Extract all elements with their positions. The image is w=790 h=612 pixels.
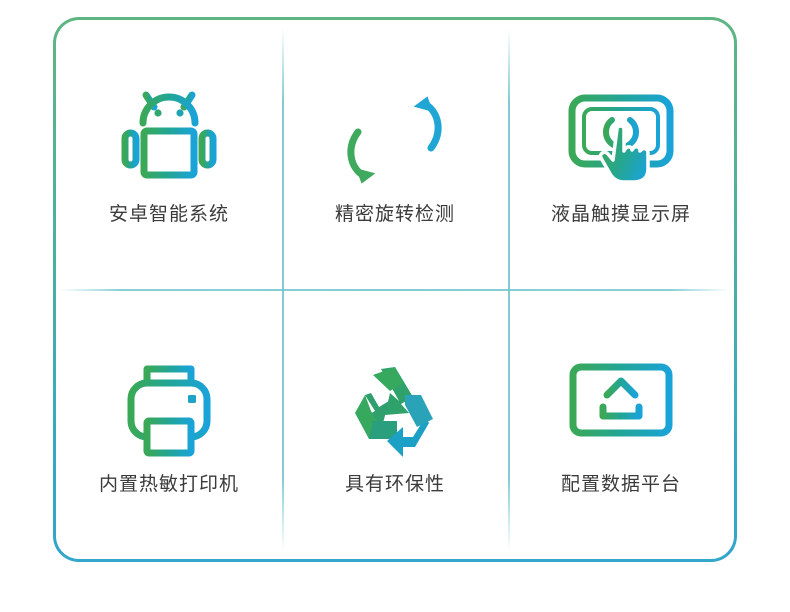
feature-grid-page: 安卓智能系统 [0,0,790,612]
feature-label: 配置数据平台 [561,475,681,494]
grid-divider-horizontal [60,289,730,291]
monitor-upload-icon [561,355,681,465]
feature-cell-environmentally-friendly[interactable]: 具有环保性 [282,290,508,560]
feature-cell-android-system[interactable]: 安卓智能系统 [56,20,282,290]
feature-label: 内置热敏打印机 [99,475,239,494]
feature-cell-built-in-thermal-printer[interactable]: 内置热敏打印机 [56,290,282,560]
rotation-detection-icon [335,85,455,195]
recycle-icon [335,355,455,465]
feature-cell-lcd-touch-display[interactable]: 液晶触摸显示屏 [508,20,734,290]
feature-label: 液晶触摸显示屏 [551,205,691,224]
feature-card-inner: 安卓智能系统 [56,20,734,559]
feature-cell-configuration-data-platform[interactable]: 配置数据平台 [508,290,734,560]
feature-label: 具有环保性 [345,475,445,494]
android-robot-icon [109,85,229,195]
feature-label: 精密旋转检测 [335,205,455,224]
feature-label: 安卓智能系统 [109,205,229,224]
touch-screen-icon [561,85,681,195]
feature-cell-precision-rotation-detection[interactable]: 精密旋转检测 [282,20,508,290]
feature-card: 安卓智能系统 [53,17,737,562]
printer-icon [109,355,229,465]
